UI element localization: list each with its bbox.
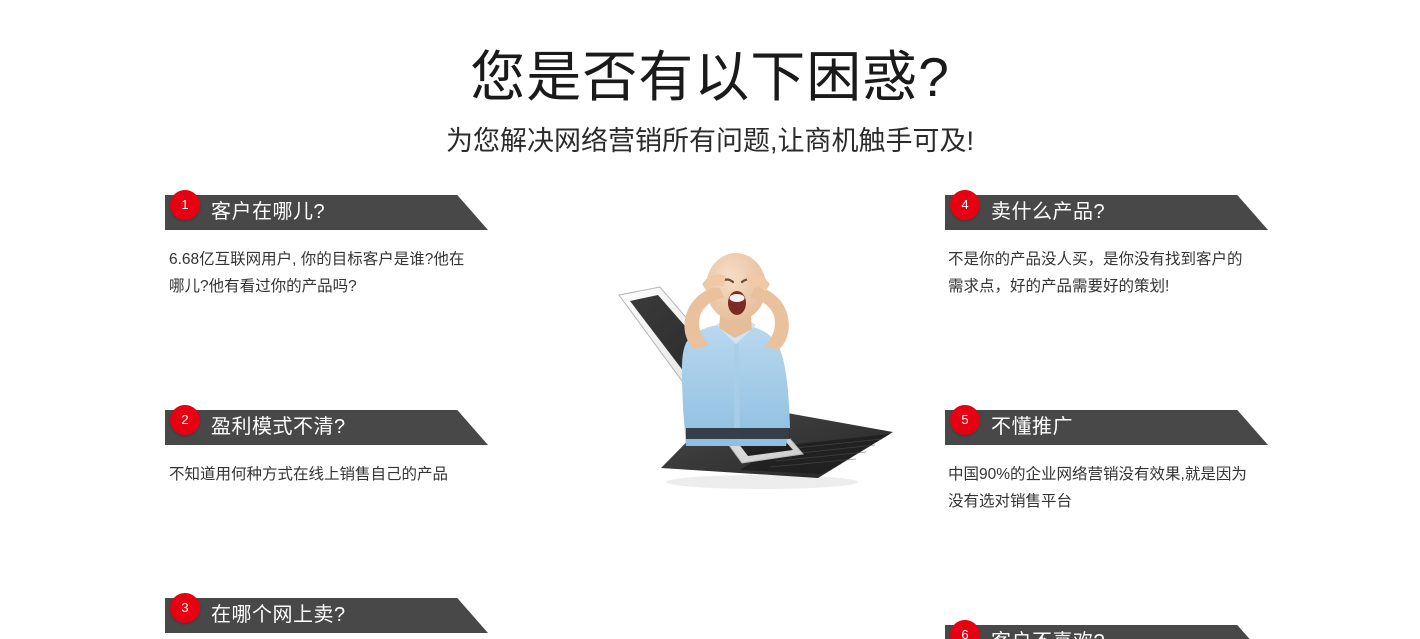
problem-title: 在哪个网上卖? — [211, 601, 346, 629]
problem-item-6: 6 客户不喜欢? 落地页没有根据目标客户的喜好在规划, 导致跳出率高达95% — [940, 620, 1270, 639]
problem-number-badge: 3 — [170, 593, 200, 623]
problem-banner-3: 3 在哪个网上卖? — [165, 593, 490, 633]
problem-body: 中国90%的企业网络营销没有效果,就是因为没有选对销售平台 — [940, 461, 1250, 515]
problem-banner-1: 1 客户在哪儿? — [165, 190, 490, 230]
problem-item-5: 5 不懂推广 中国90%的企业网络营销没有效果,就是因为没有选对销售平台 — [940, 405, 1270, 515]
page-subtitle: 为您解决网络营销所有问题,让商机触手可及! — [0, 125, 1420, 157]
problem-number-badge: 5 — [950, 405, 980, 435]
problem-title: 卖什么产品? — [991, 198, 1105, 226]
problem-number-badge: 1 — [170, 190, 200, 220]
right-column: 4 卖什么产品? 不是你的产品没人买，是你没有找到客户的需求点，好的产品需要好的… — [940, 190, 1270, 639]
problem-body: 6.68亿互联网用户, 你的目标客户是谁?他在哪儿?他有看过你的产品吗? — [160, 246, 470, 300]
problem-body: 不知道用何种方式在线上销售自己的产品 — [160, 461, 470, 488]
problem-body: 不是你的产品没人买，是你没有找到客户的需求点，好的产品需要好的策划! — [940, 246, 1250, 300]
problem-title: 客户不喜欢? — [991, 628, 1105, 639]
problem-title: 不懂推广 — [991, 413, 1073, 441]
problem-item-2: 2 盈利模式不清? 不知道用何种方式在线上销售自己的产品 — [160, 405, 490, 488]
left-column: 1 客户在哪儿? 6.68亿互联网用户, 你的目标客户是谁?他在哪儿?他有看过你… — [160, 190, 490, 639]
problem-number-badge: 6 — [950, 620, 980, 639]
center-illustration — [590, 232, 915, 492]
page-title: 您是否有以下困惑? — [0, 46, 1420, 109]
problem-title: 盈利模式不清? — [211, 413, 346, 441]
problem-item-3: 3 在哪个网上卖? 中国90%的企业网络营销没有效果就是因为没有选对销售平台 — [160, 593, 490, 639]
problem-title: 客户在哪儿? — [211, 198, 325, 226]
page-heading: 您是否有以下困惑? 为您解决网络营销所有问题,让商机触手可及! — [0, 0, 1420, 157]
problem-item-4: 4 卖什么产品? 不是你的产品没人买，是你没有找到客户的需求点，好的产品需要好的… — [940, 190, 1270, 300]
problem-banner-4: 4 卖什么产品? — [945, 190, 1270, 230]
problem-banner-2: 2 盈利模式不清? — [165, 405, 490, 445]
problem-item-1: 1 客户在哪儿? 6.68亿互联网用户, 你的目标客户是谁?他在哪儿?他有看过你… — [160, 190, 490, 300]
problem-number-badge: 4 — [950, 190, 980, 220]
screaming-man — [682, 253, 790, 446]
problem-banner-6: 6 客户不喜欢? — [945, 620, 1270, 639]
landing-page-section: 您是否有以下困惑? 为您解决网络营销所有问题,让商机触手可及! 1 客户在哪儿?… — [0, 0, 1420, 639]
problem-number-badge: 2 — [170, 405, 200, 435]
problem-banner-5: 5 不懂推广 — [945, 405, 1270, 445]
